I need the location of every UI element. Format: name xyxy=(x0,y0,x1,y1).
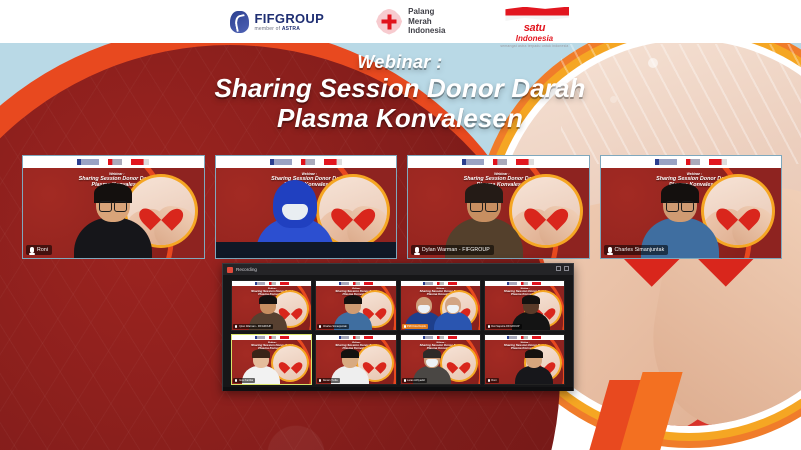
headline-line-2: Sharing Session Donor Darah xyxy=(175,74,625,103)
tile-logo-strip xyxy=(408,156,589,168)
screenshot-stage: FIFGROUP member of ASTRA Palang Merah In… xyxy=(0,0,801,450)
participant-name: Dylan Warman - FIFGROUP xyxy=(239,325,272,328)
event-headline: Webinar : Sharing Session Donor Darah Pl… xyxy=(175,52,625,133)
pmi-mini-logo-icon xyxy=(686,159,700,165)
pmi-line-3: Indonesia xyxy=(408,26,445,35)
logo-satu-indonesia: satu Indonesia semangat astra terpadu un… xyxy=(497,7,571,37)
fifgroup-mini-logo-icon xyxy=(77,159,99,165)
microphone-icon xyxy=(488,379,490,382)
microphone-icon xyxy=(404,325,406,328)
fifgroup-mini-logo-icon xyxy=(507,336,517,339)
satu-mini-logo-icon xyxy=(516,159,534,165)
participant-name: Roni xyxy=(37,247,48,253)
microphone-icon xyxy=(319,379,321,382)
gallery-tile[interactable]: Webinar :Sharing Session Donor DarahPlas… xyxy=(315,334,396,385)
zoom-recording-icon xyxy=(227,267,233,273)
participant-figure xyxy=(74,186,152,258)
participant-name-badge: Charles Simanjuntak xyxy=(317,324,348,329)
participant-name: PMI Kota Depok xyxy=(407,325,426,328)
gallery-tile[interactable]: Webinar :Sharing Session Donor DarahPlas… xyxy=(484,334,565,385)
headline-line-3: Plasma Konvalesen xyxy=(175,104,625,133)
zoom-window-title: Recording xyxy=(236,267,257,272)
minimize-icon[interactable] xyxy=(556,266,561,271)
zoom-gallery-body: Webinar :Sharing Session Donor DarahPlas… xyxy=(223,275,573,390)
satu-mini-logo-icon xyxy=(448,336,457,339)
fifgroup-mini-logo-icon xyxy=(423,282,433,285)
speaker-tile-roni[interactable]: Webinar : Sharing Session Donor Darah Pl… xyxy=(22,155,205,259)
satu-mini-logo-icon xyxy=(532,282,541,285)
participant-name: Dewi Kartika xyxy=(239,379,254,382)
pmi-line-2: Merah xyxy=(408,17,445,26)
zoom-gallery-grid: Webinar :Sharing Session Donor DarahPlas… xyxy=(231,280,565,385)
tile-logo-strip xyxy=(23,156,204,168)
gallery-tile[interactable]: Webinar :Sharing Session Donor DarahPlas… xyxy=(315,280,396,331)
participant-name-badge: Roni xyxy=(486,378,499,383)
fifgroup-subtitle: member of ASTRA xyxy=(255,27,325,32)
participant-name: Roni xyxy=(491,379,496,382)
participant-figure xyxy=(515,351,553,384)
microphone-icon xyxy=(235,379,237,382)
participant-name-badge: Dewi Kartika xyxy=(233,378,255,383)
satu-mini-logo-icon xyxy=(448,282,457,285)
zoom-window-footer xyxy=(223,387,573,391)
participant-name: Charles Simanjuntak xyxy=(615,247,665,253)
speaker-tile-row: Webinar : Sharing Session Donor Darah Pl… xyxy=(22,155,782,259)
pmi-mini-logo-icon xyxy=(493,159,507,165)
fifgroup-mini-logo-icon xyxy=(339,282,349,285)
microphone-icon xyxy=(488,325,490,328)
microphone-icon xyxy=(30,247,34,253)
pmi-mini-logo-icon xyxy=(437,336,444,339)
participant-name: Dwi Saputra FIFGROUP xyxy=(491,325,519,328)
zoom-meeting-window[interactable]: Recording Webinar :Sharing Session Donor… xyxy=(222,263,574,391)
speaker-tile-2[interactable]: Webinar : Sharing Session Donor Darah Pl… xyxy=(215,155,398,259)
fifgroup-name: FIFGROUP xyxy=(255,12,325,25)
tile-logo-strip xyxy=(601,156,782,168)
satu-mini-logo-icon xyxy=(280,336,289,339)
logo-fifgroup: FIFGROUP member of ASTRA xyxy=(230,11,325,33)
gallery-tile-active-speaker[interactable]: Webinar :Sharing Session Donor DarahPlas… xyxy=(231,334,312,385)
fifgroup-mini-logo-icon xyxy=(507,282,517,285)
satu-mini-logo-icon xyxy=(324,159,342,165)
participant-name: Dylan Warman - FIFGROUP xyxy=(422,247,490,253)
speaker-tile-charles-simanjuntak[interactable]: Webinar : Sharing Session Donor Darah Pl… xyxy=(600,155,783,259)
pmi-mini-logo-icon xyxy=(353,282,360,285)
fifgroup-mark-icon xyxy=(230,11,249,33)
microphone-icon xyxy=(319,325,321,328)
window-controls[interactable] xyxy=(556,266,569,271)
participant-name: Denan Yudia xyxy=(323,379,338,382)
satu-mini-logo-icon xyxy=(364,282,373,285)
participant-name-badge: Roni xyxy=(26,245,52,255)
satu-mini-logo-icon xyxy=(709,159,727,165)
pmi-mini-logo-icon xyxy=(269,282,276,285)
pmi-mini-logo-icon xyxy=(353,336,360,339)
pmi-mini-logo-icon xyxy=(108,159,122,165)
participant-name-badge: Dylan Warman - FIFGROUP xyxy=(233,324,273,329)
maximize-icon[interactable] xyxy=(564,266,569,271)
participant-name-badge: Dwi Saputra FIFGROUP xyxy=(486,324,522,329)
pmi-mini-logo-icon xyxy=(269,336,276,339)
headline-line-1: Webinar : xyxy=(175,52,625,73)
satu-mini-logo-icon xyxy=(131,159,149,165)
red-cross-icon xyxy=(376,9,402,35)
participant-name: Charles Simanjuntak xyxy=(323,325,347,328)
gallery-tile[interactable]: Webinar :Sharing Session Donor DarahPlas… xyxy=(484,280,565,331)
fifgroup-mini-logo-icon xyxy=(655,159,677,165)
participant-name-badge: Laras Arifiyadid xyxy=(402,378,427,383)
satu-mini-logo-icon xyxy=(280,282,289,285)
tile-logo-strip xyxy=(216,156,397,168)
satu-mini-logo-icon xyxy=(364,336,373,339)
fifgroup-mini-logo-icon xyxy=(270,159,292,165)
participant-name-badge: Denan Yudia xyxy=(317,378,339,383)
satu-word-2: Indonesia xyxy=(497,34,571,43)
fifgroup-mini-logo-icon xyxy=(423,336,433,339)
pmi-mini-logo-icon xyxy=(521,336,528,339)
pmi-mini-logo-icon xyxy=(301,159,315,165)
pmi-mini-logo-icon xyxy=(437,282,444,285)
satu-word-1: satu xyxy=(524,22,545,34)
pmi-line-1: Palang xyxy=(408,7,445,16)
participant-name-badge: Charles Simanjuntak xyxy=(604,245,669,255)
participant-figure xyxy=(434,297,472,330)
gallery-tile[interactable]: Webinar :Sharing Session Donor DarahPlas… xyxy=(231,280,312,331)
speaker-tile-dylan-warman[interactable]: Webinar : Sharing Session Donor Darah Pl… xyxy=(407,155,590,259)
logo-bar: FIFGROUP member of ASTRA Palang Merah In… xyxy=(0,0,801,43)
microphone-icon xyxy=(415,247,419,253)
satu-indonesia-flag-icon: satu Indonesia semangat astra terpadu un… xyxy=(497,7,571,37)
zoom-window-titlebar[interactable]: Recording xyxy=(223,264,573,275)
microphone-icon xyxy=(235,325,237,328)
microphone-icon xyxy=(608,247,612,253)
satu-tagline: semangat astra terpadu untuk indonesia xyxy=(497,44,571,48)
gallery-tile[interactable]: Webinar :Sharing Session Donor DarahPlas… xyxy=(400,280,481,331)
participant-name: Laras Arifiyadid xyxy=(407,379,425,382)
gallery-tile[interactable]: Webinar :Sharing Session Donor DarahPlas… xyxy=(400,334,481,385)
fifgroup-mini-logo-icon xyxy=(462,159,484,165)
satu-mini-logo-icon xyxy=(532,336,541,339)
participant-name-badge: PMI Kota Depok xyxy=(402,324,428,329)
pmi-mini-logo-icon xyxy=(521,282,528,285)
microphone-icon xyxy=(404,379,406,382)
fifgroup-mini-logo-icon xyxy=(255,336,265,339)
logo-palang-merah-indonesia: Palang Merah Indonesia xyxy=(376,7,445,35)
decor-dot-1 xyxy=(648,58,658,68)
fifgroup-mini-logo-icon xyxy=(339,336,349,339)
fifgroup-mini-logo-icon xyxy=(255,282,265,285)
participant-name-badge: Dylan Warman - FIFGROUP xyxy=(411,245,494,255)
